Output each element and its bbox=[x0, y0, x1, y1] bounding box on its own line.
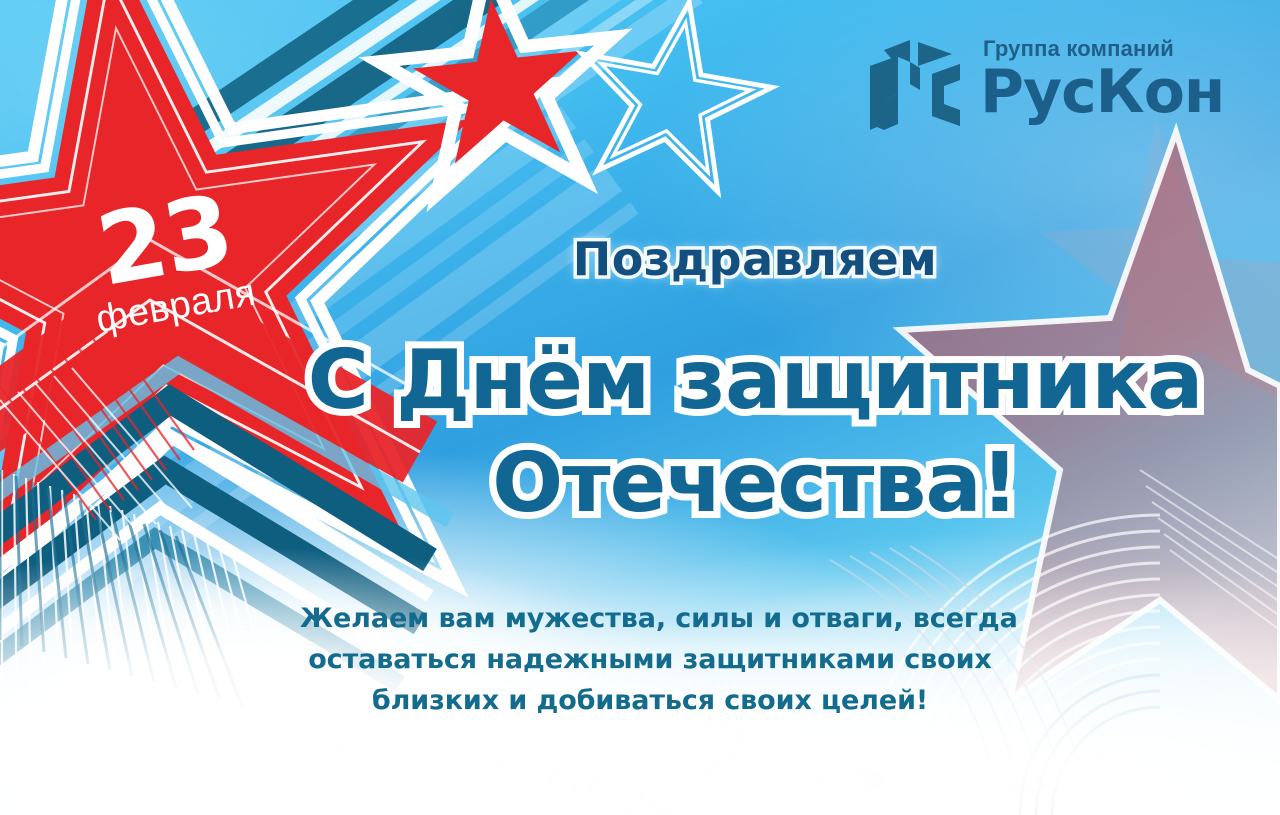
headline-line-2: Отечества! bbox=[281, 433, 1230, 536]
wish-text: Желаем вам мужества, силы и отваги, всег… bbox=[300, 598, 1000, 721]
headline-line-1: С Днём защитника bbox=[281, 330, 1230, 433]
congratulation-text: Поздравляем bbox=[430, 232, 1080, 286]
wish-line-2: оставаться надежными защитниками своих bbox=[300, 639, 1000, 680]
wish-line-3: близких и добиваться своих целей! bbox=[300, 680, 1000, 721]
wish-line-1: Желаем вам мужества, силы и отваги, всег… bbox=[300, 598, 1000, 639]
page-title: С Днём защитника Отечества! bbox=[281, 330, 1230, 535]
greeting-card: Группа компаний РусКон 23 февраля Поздра… bbox=[0, 0, 1280, 815]
date-badge: 23 февраля bbox=[58, 180, 278, 343]
text-layer: 23 февраля Поздравляем С Днём защитника … bbox=[0, 0, 1280, 815]
